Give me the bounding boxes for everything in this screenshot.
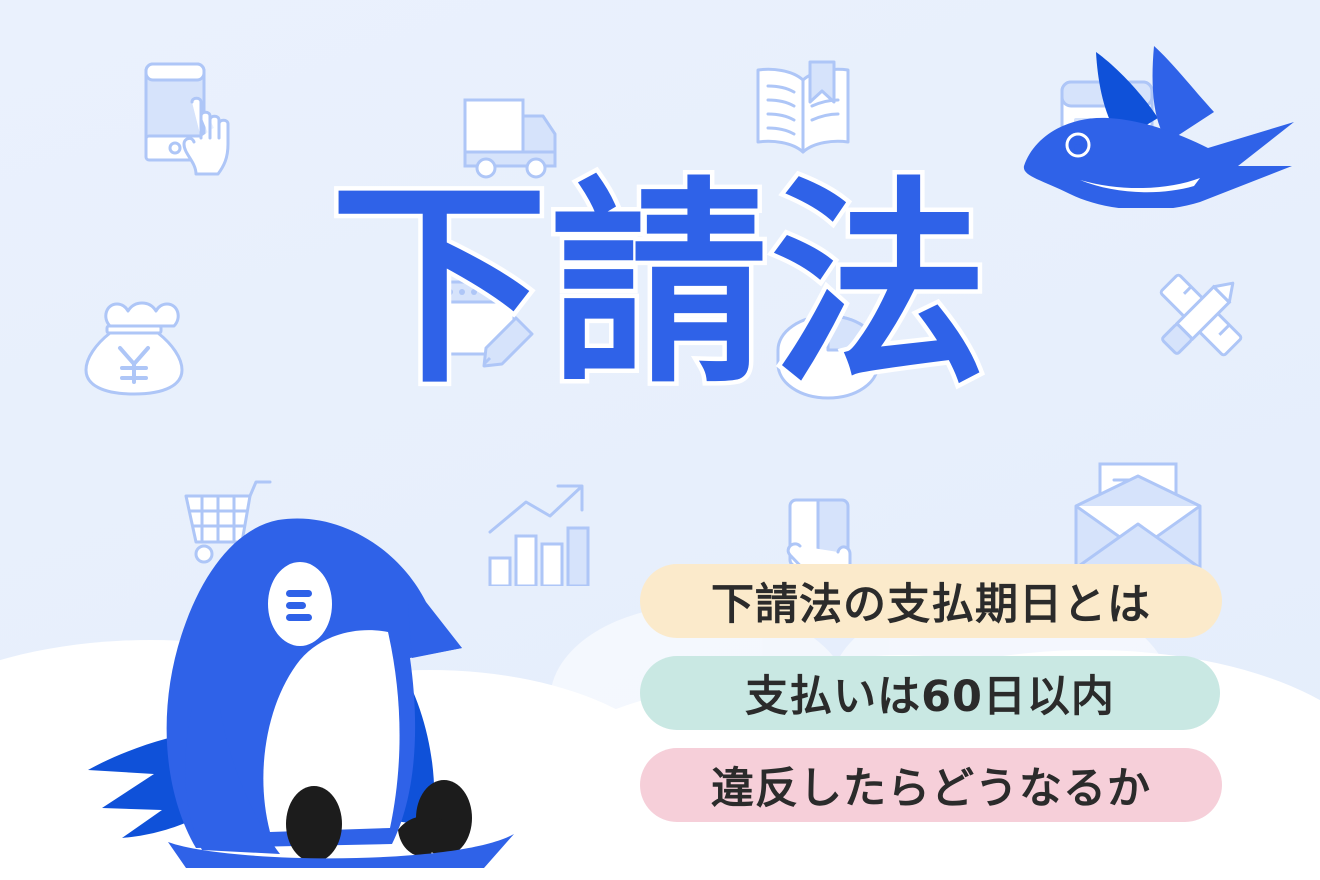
keypoint-pill-3: 違反したらどうなるか (640, 748, 1222, 822)
keypoint-pill-1: 下請法の支払期日とは (640, 564, 1222, 638)
open-book-icon (752, 58, 854, 162)
keypoint-pill-1-label: 下請法の支払期日とは (711, 570, 1151, 632)
open-envelope-icon (1072, 462, 1204, 574)
smartphone-tap-icon (140, 58, 252, 182)
page-title-text: 下請法 (330, 178, 990, 396)
penguin-mascot (46, 512, 592, 872)
keypoint-pill-3-label: 違反したらどうなるか (711, 754, 1151, 816)
keypoint-pill-2-label: 支払いは60日以内 (745, 662, 1115, 724)
page-title: 下請法 (0, 178, 1320, 396)
keypoint-pill-list: 下請法の支払期日とは 支払いは60日以内 違反したらどうなるか (640, 564, 1226, 840)
keypoint-pill-2: 支払いは60日以内 (640, 656, 1220, 730)
banner-canvas: 下請法 下請法の支払期日とは 支払いは60日以内 違反したらどうなるか (0, 0, 1320, 880)
